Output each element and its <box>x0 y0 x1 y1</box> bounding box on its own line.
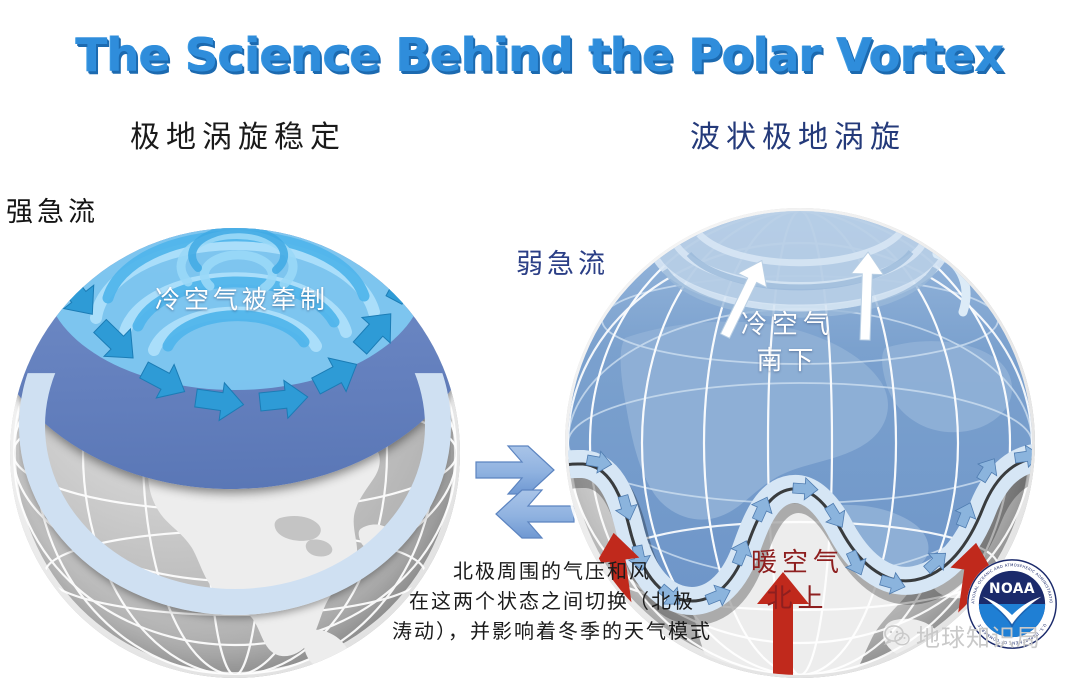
label-cold-air-held: 冷空气被牵制 <box>155 280 329 316</box>
infographic-canvas: The Science Behind the Polar Vortex 极地涡旋… <box>0 0 1080 698</box>
heading-right-panel: 波状极地涡旋 <box>690 112 906 156</box>
watermark-text: 地球知识局 <box>916 618 1041 653</box>
label-cold-air-south: 冷空气 南下 <box>741 308 834 380</box>
arrow-right-icon <box>476 446 554 494</box>
bidirectional-transition-arrows <box>470 440 580 550</box>
caption-line-3: 涛动），并影响着冬季的天气模式 <box>352 616 752 646</box>
arrow-left-icon <box>496 490 574 538</box>
noaa-wordmark: NOAA <box>989 581 1035 597</box>
caption-line-2: 在这两个状态之间切换（北极 <box>352 586 752 616</box>
watermark: 地球知识局 <box>884 618 1041 653</box>
page-title: The Science Behind the Polar Vortex <box>0 28 1080 82</box>
caption-line-1: 北极周围的气压和风 <box>352 556 752 586</box>
wechat-icon <box>884 624 910 648</box>
label-strong-jet: 强急流 <box>6 190 99 229</box>
label-warm-air-north: 暖空气 北上 <box>751 546 844 618</box>
heading-left-panel: 极地涡旋稳定 <box>130 112 346 156</box>
explanatory-caption: 北极周围的气压和风 在这两个状态之间切换（北极 涛动），并影响着冬季的天气模式 <box>352 556 752 646</box>
